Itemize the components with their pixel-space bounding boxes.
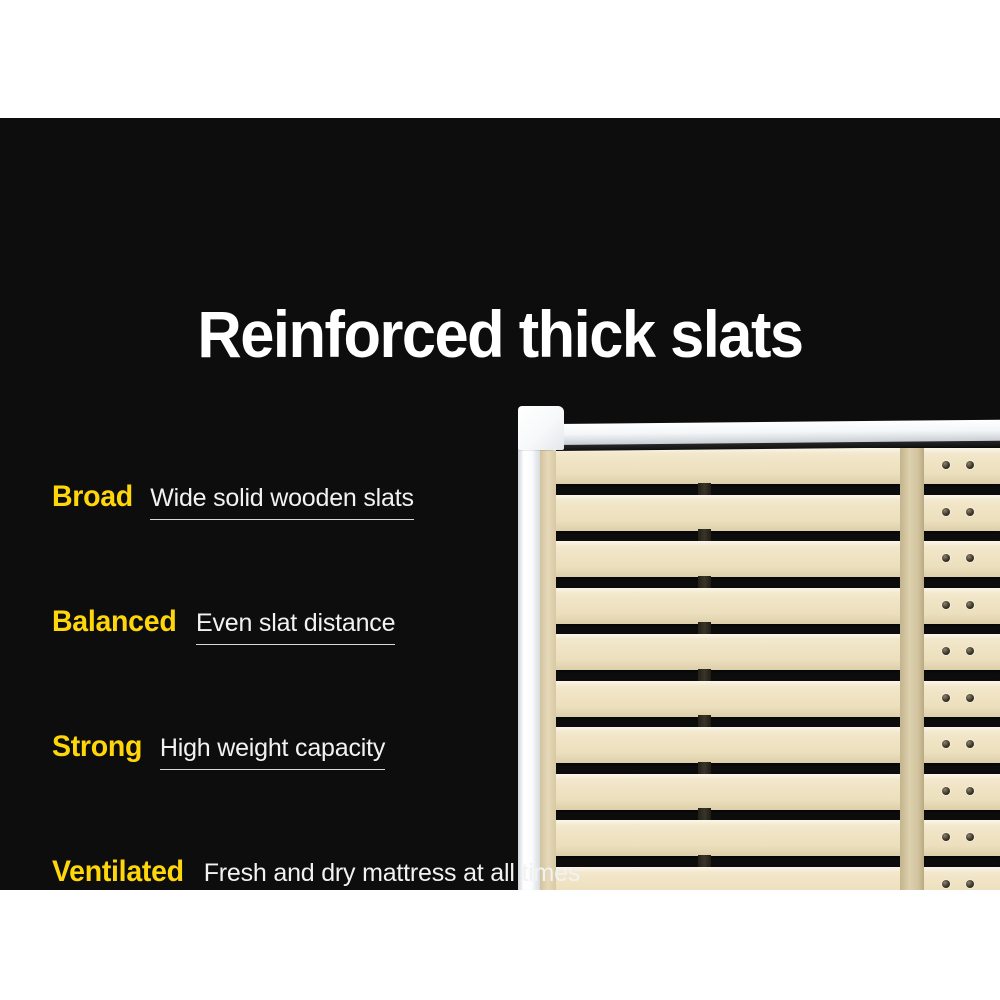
center-support-beam: [900, 448, 924, 890]
slat-highlight: [538, 681, 1000, 686]
screw-icon: [942, 461, 950, 469]
wooden-slats: [538, 448, 1000, 890]
screw-icon: [942, 880, 950, 888]
slat-highlight: [538, 634, 1000, 639]
screw-icon: [966, 461, 974, 469]
slat: [538, 867, 1000, 890]
feature-item-balanced: Balanced Even slat distance: [52, 605, 592, 730]
screw-icon: [966, 601, 974, 609]
screw-icon: [942, 787, 950, 795]
slat-highlight: [538, 495, 1000, 500]
screw-icon: [966, 880, 974, 888]
slat: [538, 541, 1000, 577]
feature-item-strong: Strong High weight capacity: [52, 730, 592, 855]
screw-icon: [966, 833, 974, 841]
screw-icon: [942, 601, 950, 609]
feature-term: Broad: [52, 480, 133, 514]
feature-term: Balanced: [52, 605, 176, 639]
feature-description-wrap: Fresh and dry mattress at all times: [204, 858, 580, 890]
screw-icon: [942, 508, 950, 516]
slat-highlight: [538, 727, 1000, 732]
feature-term: Ventilated: [52, 855, 184, 889]
slat-highlight: [538, 774, 1000, 779]
slat: [538, 820, 1000, 856]
screw-icon: [942, 647, 950, 655]
feature-underline: [196, 644, 395, 645]
screw-icon: [942, 740, 950, 748]
feature-underline: [160, 769, 385, 770]
slat: [538, 774, 1000, 810]
feature-underline: [150, 519, 414, 520]
slat: [538, 727, 1000, 763]
screw-icon: [942, 694, 950, 702]
page-title: Reinforced thick slats: [35, 296, 965, 372]
white-corner-post: [518, 406, 564, 450]
feature-description-wrap: High weight capacity: [160, 733, 385, 770]
screw-icon: [942, 554, 950, 562]
screw-icon: [966, 694, 974, 702]
slat: [538, 588, 1000, 624]
screw-icon: [966, 508, 974, 516]
white-top-rail: [556, 420, 1000, 445]
screw-icon: [966, 787, 974, 795]
slat: [538, 448, 1000, 484]
product-feature-banner: Reinforced thick slats Broad Wide solid …: [0, 0, 1000, 1000]
feature-item-broad: Broad Wide solid wooden slats: [52, 480, 592, 605]
feature-description: Even slat distance: [196, 609, 395, 637]
feature-description-wrap: Even slat distance: [196, 608, 395, 645]
slat: [538, 681, 1000, 717]
screw-icon: [966, 554, 974, 562]
feature-term: Strong: [52, 730, 142, 764]
feature-description-wrap: Wide solid wooden slats: [150, 483, 414, 520]
slat-highlight: [538, 588, 1000, 593]
feature-description: Wide solid wooden slats: [150, 484, 414, 512]
slat: [538, 495, 1000, 531]
slat-highlight: [538, 541, 1000, 546]
feature-item-ventilated: Ventilated Fresh and dry mattress at all…: [52, 855, 592, 890]
screw-icon: [942, 833, 950, 841]
feature-list: Broad Wide solid wooden slats Balanced E…: [52, 480, 592, 890]
feature-description: High weight capacity: [160, 734, 385, 762]
slat-highlight: [538, 820, 1000, 825]
feature-panel: Reinforced thick slats Broad Wide solid …: [0, 118, 1000, 890]
screw-icon: [966, 647, 974, 655]
slat: [538, 634, 1000, 670]
slat-highlight: [538, 867, 1000, 872]
feature-description: Fresh and dry mattress at all times: [204, 859, 580, 887]
screw-icon: [966, 740, 974, 748]
